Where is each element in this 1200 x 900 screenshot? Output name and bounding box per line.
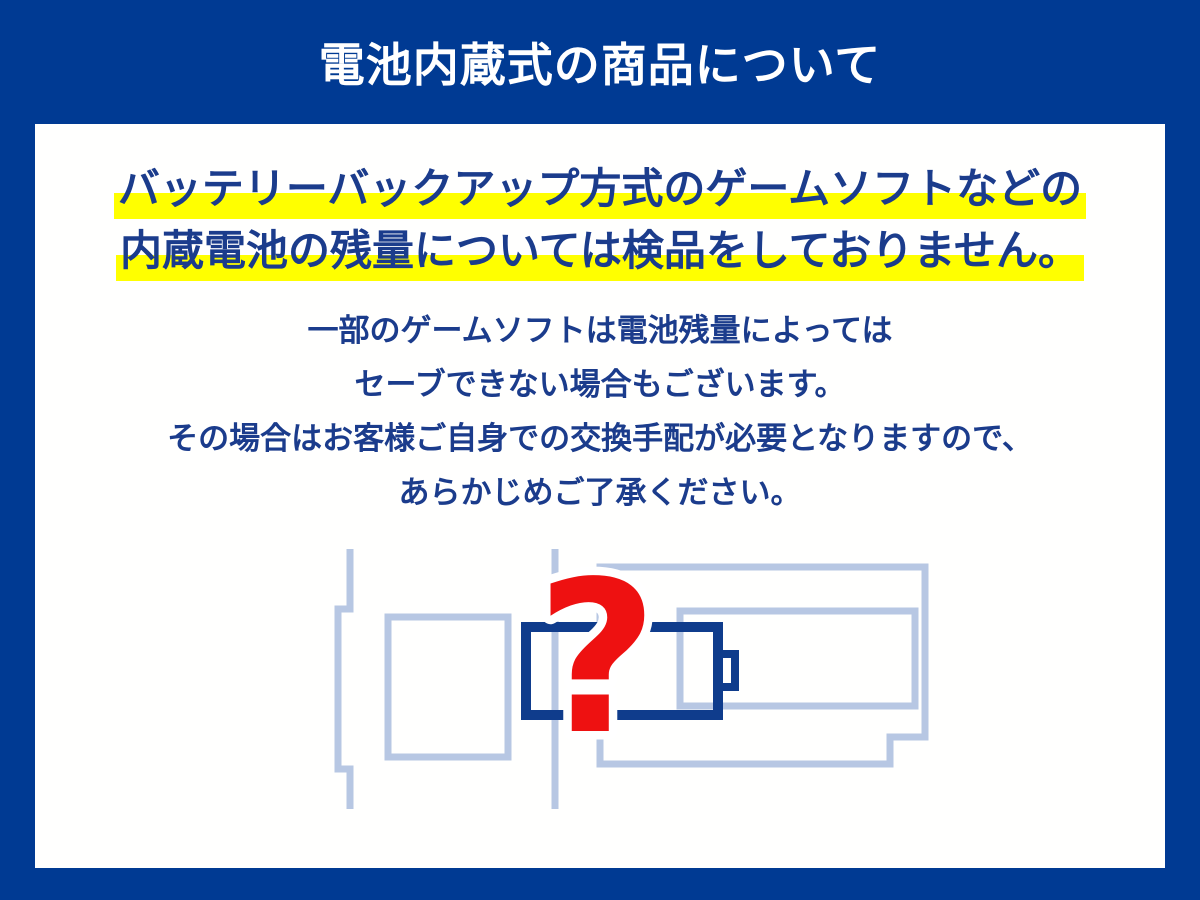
body-line-3: その場合はお客様ご自身での交換手配が必要となりますので、 bbox=[35, 424, 1165, 455]
question-mark-icon: ? ? bbox=[536, 549, 658, 781]
headline-line-1-text: バッテリーバックアップ方式のゲームソフトなどの bbox=[118, 164, 1082, 213]
headline-line-2: 内蔵電池の残量については検品をしておりません。 bbox=[116, 230, 1084, 272]
svg-text:?: ? bbox=[536, 549, 658, 781]
body-line-4: あらかじめご了承ください。 bbox=[35, 478, 1165, 509]
battery-illustration: ? ? bbox=[300, 549, 940, 809]
left-cartridge-label bbox=[388, 617, 508, 757]
headline-line-2-text: 内蔵電池の残量については検品をしておりません。 bbox=[120, 226, 1080, 275]
body-line-1: 一部のゲームソフトは電池残量によっては bbox=[35, 316, 1165, 347]
headline-line-1: バッテリーバックアップ方式のゲームソフトなどの bbox=[114, 168, 1086, 210]
headline-block: バッテリーバックアップ方式のゲームソフトなどの 内蔵電池の残量については検品をし… bbox=[35, 168, 1165, 272]
header-band: 電池内蔵式の商品について bbox=[0, 0, 1200, 124]
slide-root: 電池内蔵式の商品について バッテリーバックアップ方式のゲームソフトなどの 内蔵電… bbox=[0, 0, 1200, 900]
page-title: 電池内蔵式の商品について bbox=[319, 42, 882, 88]
battery-terminal-icon bbox=[718, 654, 735, 687]
body-paragraph: 一部のゲームソフトは電池残量によっては セーブできない場合もございます。 その場… bbox=[35, 316, 1165, 509]
body-line-2: セーブできない場合もございます。 bbox=[35, 370, 1165, 401]
content-panel: バッテリーバックアップ方式のゲームソフトなどの 内蔵電池の残量については検品をし… bbox=[35, 124, 1165, 868]
